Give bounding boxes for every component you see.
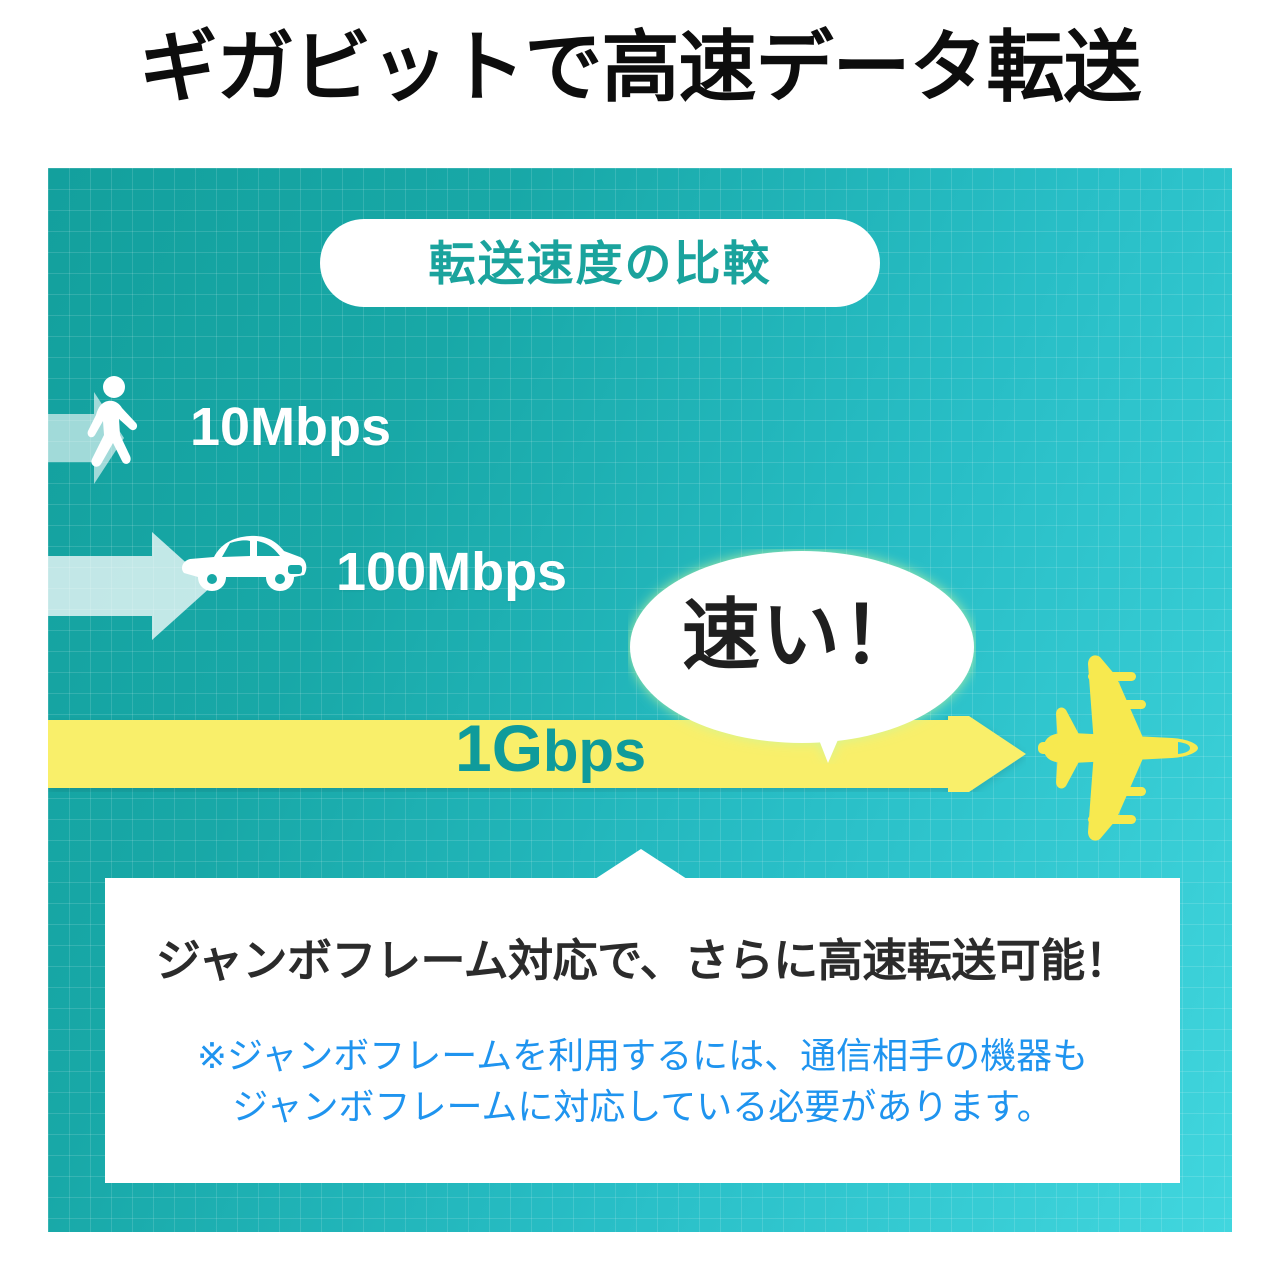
badge-label: 転送速度の比較 [429, 240, 772, 287]
label-1gbps-prefix: 1G [455, 711, 543, 785]
label-100mbps: 100Mbps [336, 545, 567, 599]
callout-note: ※ジャンボフレームを利用するには、通信相手の機器も ジャンボフレームに対応してい… [105, 1030, 1180, 1132]
callout-heading: ジャンボフレーム対応で、さらに高速転送可能！ [105, 938, 1180, 983]
walking-person-icon [78, 375, 144, 475]
label-10mbps: 10Mbps [190, 400, 391, 454]
badge-comparison-title: 転送速度の比較 [320, 219, 880, 307]
car-icon [170, 527, 310, 603]
label-1gbps: 1Gbps [455, 715, 646, 781]
speech-bubble-text: 速い！ [628, 596, 976, 674]
callout-pointer [595, 849, 687, 879]
page-title: ギガビットで高速データ転送 [0, 28, 1280, 106]
callout-note-line-2: ジャンボフレームに対応している必要があります。 [105, 1081, 1180, 1132]
airplane-icon [1032, 648, 1212, 848]
jumbo-frame-callout: ジャンボフレーム対応で、さらに高速転送可能！ ※ジャンボフレームを利用するには、… [105, 878, 1180, 1183]
callout-note-line-1: ※ジャンボフレームを利用するには、通信相手の機器も [105, 1030, 1180, 1081]
